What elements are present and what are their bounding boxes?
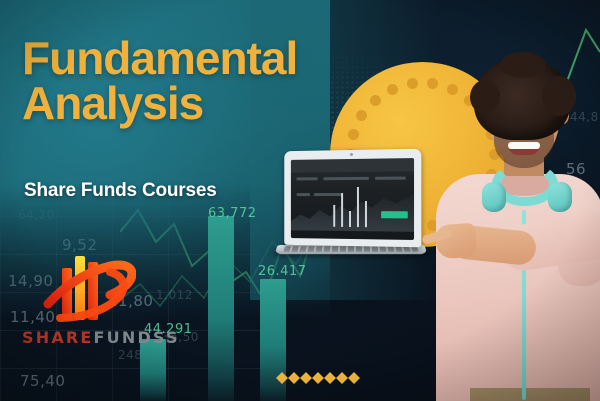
laptop [276,150,426,268]
logo-wordmark: SHAREFUNDSS [22,328,152,347]
screen-candle [357,187,359,227]
laptop-lid [284,149,421,248]
promo-banner: 9,5214,9011,4075,4011,801,01229,92824835… [0,0,600,401]
screen-candle [333,205,335,227]
bar-2 [208,216,234,401]
screen-candle [349,211,351,227]
chevron-strip-icon [276,368,362,384]
subtitle: Share Funds Courses [24,180,217,202]
headphone-cup-right [548,182,572,212]
presenter-mouth [508,142,540,155]
screen-chip [375,177,406,180]
bar-label-2: 63,772 [208,206,257,221]
presenter-hair-tuft [470,80,500,114]
screen-candle [341,193,343,227]
screen-chip [314,193,341,196]
headline-line-2: Analysis [22,81,322,126]
coin-dot [387,84,398,95]
headphone-cup-left [482,182,506,212]
presenter-pants [470,388,590,401]
presenter-hair-tuft [542,76,576,116]
brand-logo[interactable]: SHAREFUNDSS [22,252,152,357]
logo-word-share: SHARE [22,328,94,347]
coin-dot [348,129,359,140]
presenter-teeth [508,142,540,149]
screen-buy-button[interactable] [381,211,408,218]
logo-mark-icon [40,252,136,330]
screen-chip [324,177,369,180]
coin-dot [370,95,381,106]
presenter-hand [435,223,477,260]
presenter-hair-tuft [500,52,546,78]
laptop-keyboard [283,246,418,252]
logo-word-fundss: FUNDSS [94,328,180,347]
laptop-camera-icon [350,153,353,156]
page-title: Fundamental Analysis [22,36,322,126]
screen-chip [297,193,310,196]
laptop-screen [291,158,414,240]
presenter-photo [430,58,600,401]
coin-dot [407,78,418,89]
screen-chip [297,177,318,180]
coin-dot [356,110,367,121]
screen-toolbar [291,158,414,173]
screen-candle [365,201,367,227]
